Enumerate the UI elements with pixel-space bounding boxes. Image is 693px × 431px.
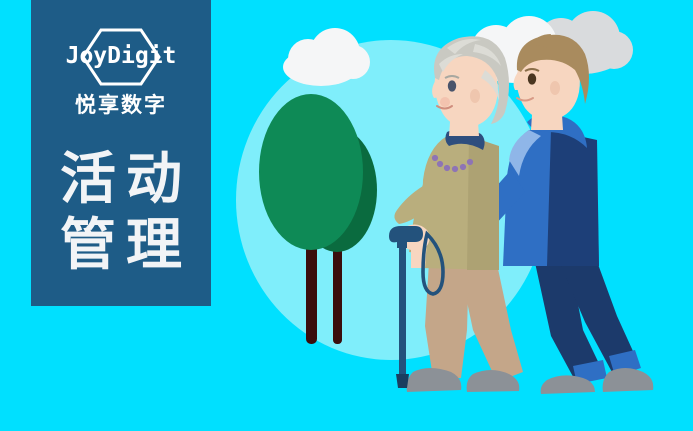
elderly-woman-front-leg: [425, 262, 469, 378]
elderly-woman-eye: [448, 80, 456, 91]
illustration-scene: [211, 0, 693, 431]
young-man-eye: [528, 73, 536, 84]
brand-panel: JoyDigit 悦享数字 活动 管理: [31, 0, 211, 306]
logo-chinese-name: 悦享数字: [75, 92, 167, 120]
cane-tip: [396, 374, 409, 388]
page-title-line-1: 活动: [50, 146, 192, 212]
poster-canvas: JoyDigit 悦享数字 活动 管理: [0, 0, 693, 431]
cane-shaft: [399, 242, 406, 382]
logo-wordmark: JoyDigit: [51, 39, 191, 73]
young-man-head: [514, 34, 589, 120]
young-man-hoodie-shade: [547, 130, 599, 266]
page-title-line-2: 管理: [50, 212, 192, 278]
logo-mark: JoyDigit: [51, 28, 191, 86]
page-title: 活动 管理: [50, 146, 192, 278]
young-man-front-shoe: [603, 368, 654, 392]
elderly-woman-head: [432, 36, 509, 127]
cloud-left: [283, 28, 370, 86]
